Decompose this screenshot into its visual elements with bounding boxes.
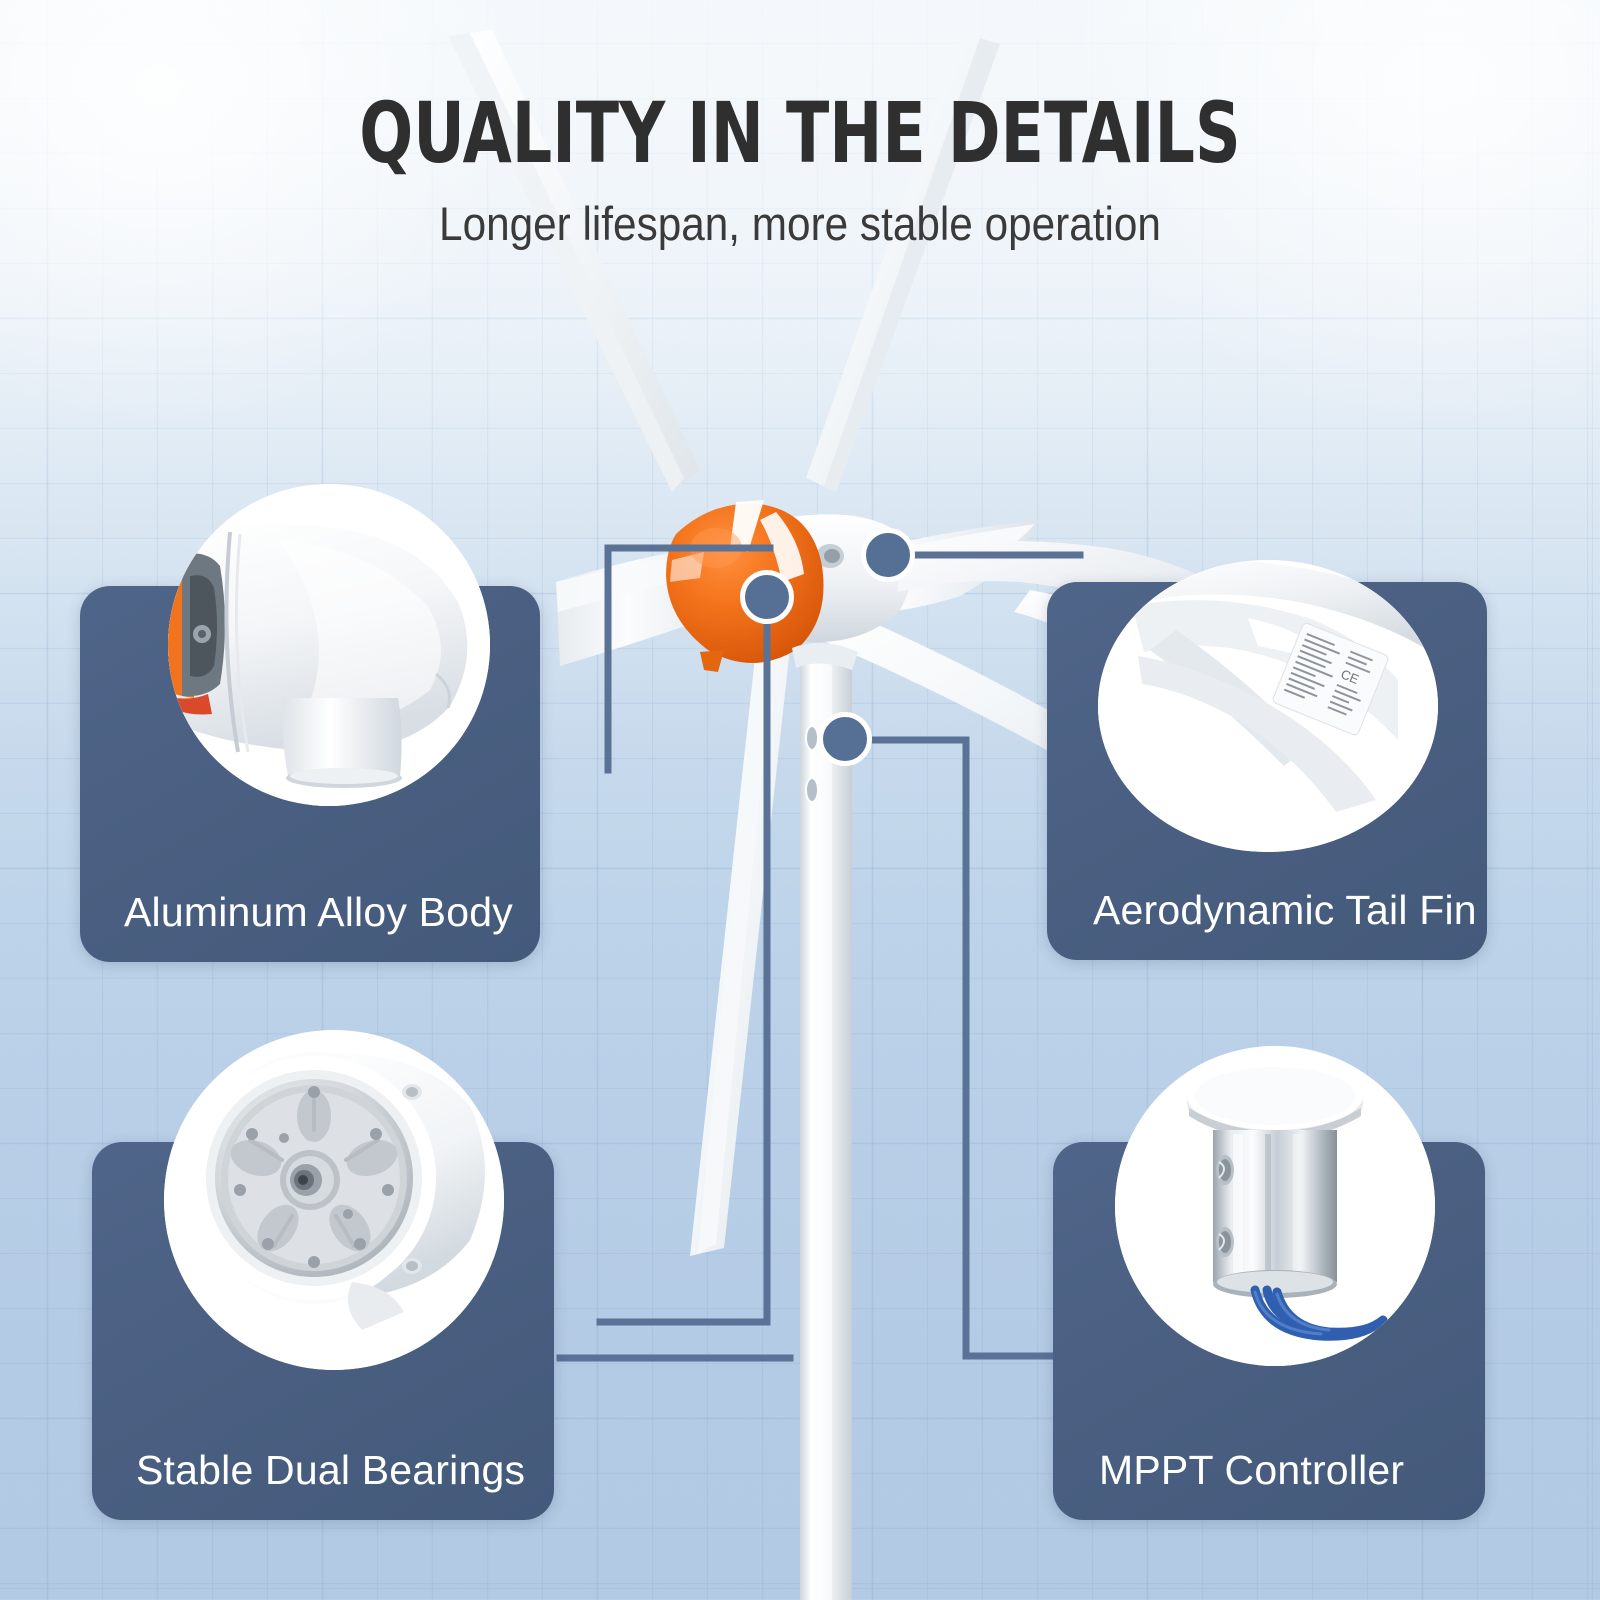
leader-line-alloy-vertical: [600, 620, 767, 1322]
card-label-bearing: Stable Dual Bearings: [92, 1447, 554, 1494]
leader-line-base: [872, 740, 1062, 1356]
page-subtitle: Longer lifespan, more stable operation: [80, 196, 1520, 251]
inset-photo-tail-fin: CE: [1098, 560, 1438, 852]
card-label-alloy: Aluminum Alloy Body: [80, 889, 540, 936]
callout-dot-base-mount[interactable]: [818, 712, 872, 766]
inset-photo-bearing-flange: [164, 1030, 504, 1370]
callout-dot-tail-fin[interactable]: [861, 528, 915, 582]
card-label-mppt: MPPT Controller: [1053, 1447, 1485, 1494]
page-title: QUALITY IN THE DETAILS: [128, 84, 1472, 182]
callout-dot-alloy-body[interactable]: [740, 570, 794, 624]
card-label-tail: Aerodynamic Tail Fin: [1047, 887, 1487, 934]
inset-photo-mppt-controller: [1115, 1046, 1435, 1366]
inset-photo-alloy-body: [168, 484, 490, 806]
